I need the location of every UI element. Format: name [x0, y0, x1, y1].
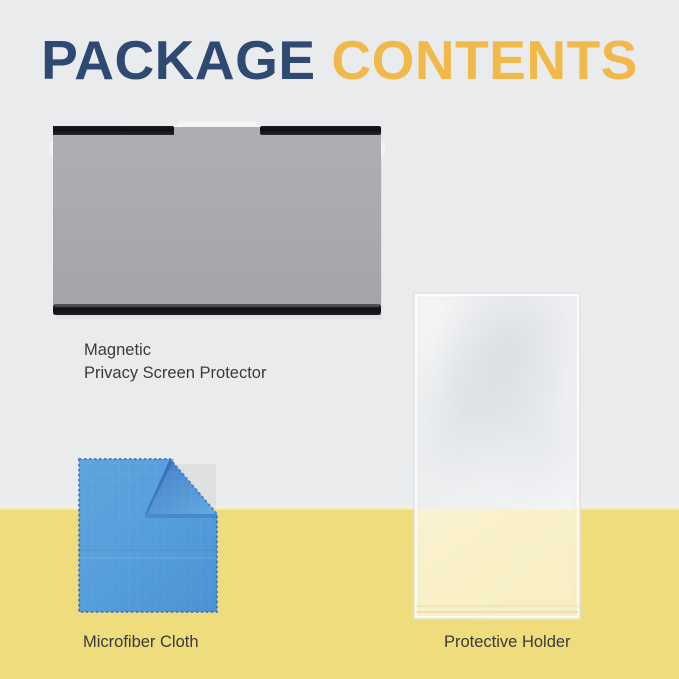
- privacy-screen-protector-image: [48, 118, 386, 330]
- microfiber-cloth-label: Microfiber Cloth: [83, 631, 199, 654]
- privacy-screen-protector-label: MagneticPrivacy Screen Protector: [84, 339, 266, 385]
- protector-label-line1: Magnetic: [84, 341, 151, 359]
- package-contents-graphic: PACKAGE CONTENTS: [0, 0, 679, 679]
- protector-label-line2: Privacy Screen Protector: [84, 364, 266, 382]
- protective-holder-image: [412, 291, 582, 623]
- protective-holder-label: Protective Holder: [444, 631, 571, 654]
- page-title: PACKAGE CONTENTS: [0, 33, 679, 88]
- page-title-word-contents: CONTENTS: [331, 29, 638, 91]
- page-title-word-package: PACKAGE: [41, 29, 315, 91]
- microfiber-cloth-image: [74, 454, 222, 618]
